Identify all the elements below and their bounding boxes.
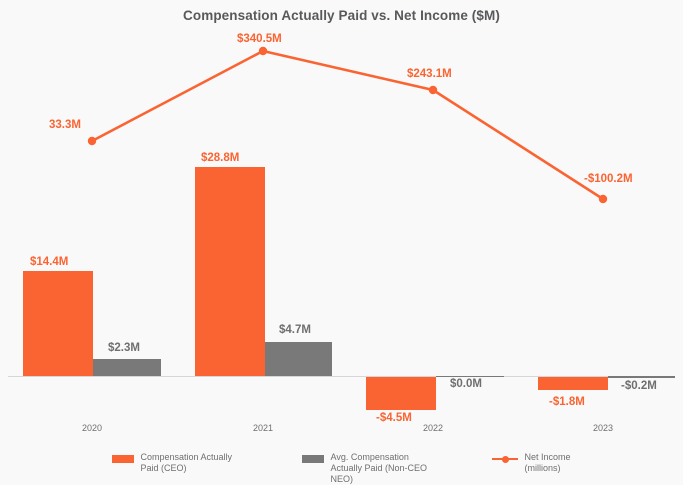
bar-neo[interactable] [436, 376, 504, 377]
swatch-icon [302, 455, 324, 463]
bar-value-label: $2.3M [108, 342, 140, 354]
bar-value-label: $28.8M [201, 152, 239, 164]
bar-neo[interactable] [93, 359, 161, 376]
legend-item-neo[interactable]: Avg. Compensation Actually Paid (Non-CEO… [302, 452, 440, 485]
bar-value-label: $0.0M [450, 378, 482, 390]
bar-ceo[interactable] [195, 167, 265, 376]
line-marker[interactable] [259, 47, 267, 55]
bar-value-label: -$0.2M [621, 380, 657, 392]
bar-ceo[interactable] [23, 271, 93, 376]
chart-legend: Compensation Actually Paid (CEO)Avg. Com… [0, 452, 683, 485]
bar-value-label: -$1.8M [549, 396, 585, 408]
bar-value-label: $4.7M [279, 324, 311, 336]
legend-item-ceo[interactable]: Compensation Actually Paid (CEO) [112, 452, 250, 474]
line-marker-icon [492, 455, 518, 463]
x-tick-2023: 2023 [543, 423, 663, 433]
x-tick-2020: 2020 [32, 423, 152, 433]
swatch-icon [112, 455, 134, 463]
bar-ceo[interactable] [538, 377, 608, 390]
legend-label: Net Income (millions) [524, 452, 570, 474]
chart-container: Compensation Actually Paid vs. Net Incom… [0, 0, 683, 483]
bar-value-label: $14.4M [30, 256, 68, 268]
bar-neo[interactable] [265, 342, 332, 376]
legend-label: Compensation Actually Paid (CEO) [140, 452, 250, 474]
net-income-value-label: -$100.2M [584, 173, 633, 185]
line-marker[interactable] [88, 137, 96, 145]
net-income-value-label: $340.5M [237, 33, 282, 45]
line-marker[interactable] [429, 86, 437, 94]
net-income-value-label: $243.1M [407, 68, 452, 80]
bar-neo[interactable] [608, 376, 675, 378]
x-tick-2022: 2022 [373, 423, 493, 433]
plot-area: $14.4M$2.3M$28.8M$4.7M-$4.5M$0.0M-$1.8M-… [0, 0, 683, 440]
bar-ceo[interactable] [366, 377, 436, 410]
x-tick-2021: 2021 [203, 423, 323, 433]
legend-item-line[interactable]: Net Income (millions) [492, 452, 570, 474]
line-marker[interactable] [599, 195, 607, 203]
net-income-value-label: 33.3M [49, 119, 81, 131]
legend-label: Avg. Compensation Actually Paid (Non-CEO… [330, 452, 440, 485]
